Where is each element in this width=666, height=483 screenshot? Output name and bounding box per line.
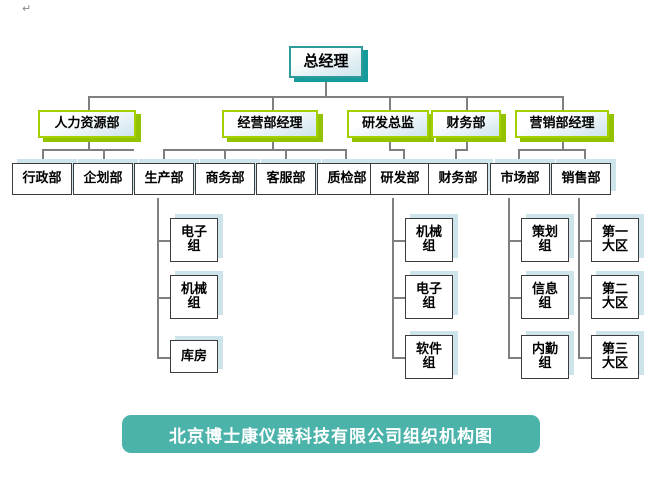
connector-rnd-bus	[389, 149, 404, 151]
connector-production-spine	[157, 198, 159, 358]
node-line-2: 组	[187, 240, 200, 254]
node-operations-manager[interactable]: 经营部经理	[222, 110, 318, 138]
node-line-1: 电子	[181, 226, 207, 240]
node-sales-region-3[interactable]: 第三 大区	[591, 335, 639, 379]
connector-salesmgr-bus	[518, 149, 586, 151]
chart-title-banner: 北京博士康仪器科技有限公司组织机构图	[122, 415, 540, 453]
chart-title-text: 北京博士康仪器科技有限公司组织机构图	[169, 422, 493, 447]
node-line-2: 大区	[602, 297, 628, 311]
connector-level2-bus	[88, 96, 564, 98]
node-line-1: 机械	[416, 226, 442, 240]
connector-sales-spine	[578, 198, 580, 358]
connector-drop-finance	[466, 96, 468, 110]
connector-ops-production	[163, 149, 165, 163]
connector-salesmgr-market	[518, 149, 520, 163]
paragraph-mark-icon: ↵	[22, 3, 31, 14]
node-sales-region-1[interactable]: 第一 大区	[591, 218, 639, 262]
node-rnd-department[interactable]: 研发部	[370, 163, 430, 195]
node-customer-service-department[interactable]: 客服部	[256, 163, 316, 195]
node-quality-control-department[interactable]: 质检部	[317, 163, 377, 195]
node-line-1: 信息	[532, 283, 558, 297]
node-planning-department[interactable]: 企划部	[73, 163, 133, 195]
node-line-2: 组	[538, 357, 551, 371]
node-line-1: 机械	[181, 283, 207, 297]
connector-ops-bus	[163, 149, 346, 151]
node-general-manager[interactable]: 总经理	[289, 46, 363, 78]
node-finance-department-sub[interactable]: 财务部	[428, 163, 488, 195]
node-rnd-director[interactable]: 研发总监	[347, 110, 429, 138]
node-finance-department[interactable]: 财务部	[431, 110, 501, 138]
connector-ops-business	[224, 149, 226, 163]
node-marketing-manager[interactable]: 营销部经理	[515, 110, 609, 138]
connector-root-stem	[325, 80, 327, 97]
connector-salesmgr-sales	[584, 149, 586, 163]
connector-marketing-spine	[508, 198, 510, 358]
connector-drop-sales-mgr	[562, 96, 564, 110]
connector-hr-bus	[42, 149, 134, 151]
node-business-department[interactable]: 商务部	[195, 163, 255, 195]
node-line-2: 组	[422, 357, 435, 371]
connector-ops-service	[285, 149, 287, 163]
node-production-department[interactable]: 生产部	[134, 163, 194, 195]
node-line-1: 第二	[602, 283, 628, 297]
node-line-2: 组	[538, 297, 551, 311]
node-line-1: 策划	[532, 226, 558, 240]
org-chart-canvas: ↵ 总经理 人力资源	[0, 0, 666, 483]
connector-rnd-dept	[403, 149, 405, 163]
node-hr-department[interactable]: 人力资源部	[38, 110, 136, 138]
node-line-1: 第一	[602, 226, 628, 240]
node-sales-region-2[interactable]: 第二 大区	[591, 275, 639, 319]
node-line-2: 组	[422, 297, 435, 311]
connector-rnd-spine	[392, 198, 394, 358]
node-marketing-internal-team[interactable]: 内勤 组	[521, 335, 569, 379]
node-line-1: 内勤	[532, 343, 558, 357]
connector-ops-qc	[345, 149, 347, 163]
node-production-electronics-team[interactable]: 电子 组	[170, 218, 218, 262]
node-line-2: 组	[538, 240, 551, 254]
node-line-2: 组	[187, 297, 200, 311]
node-line-2: 组	[422, 240, 435, 254]
node-marketing-planning-team[interactable]: 策划 组	[521, 218, 569, 262]
node-rnd-mechanical-team[interactable]: 机械 组	[405, 218, 453, 262]
connector-hr-planning	[103, 149, 105, 163]
node-marketing-information-team[interactable]: 信息 组	[521, 275, 569, 319]
node-line-1: 电子	[416, 283, 442, 297]
connector-drop-hr	[88, 96, 90, 110]
node-market-department[interactable]: 市场部	[490, 163, 550, 195]
node-production-warehouse[interactable]: 库房	[170, 340, 218, 373]
node-line-1: 软件	[416, 343, 442, 357]
node-line-2: 大区	[602, 240, 628, 254]
node-rnd-software-team[interactable]: 软件 组	[405, 335, 453, 379]
connector-drop-rnd	[389, 96, 391, 110]
node-line-1: 第三	[602, 343, 628, 357]
node-administration-department[interactable]: 行政部	[12, 163, 72, 195]
node-line-2: 大区	[602, 357, 628, 371]
connector-drop-ops	[272, 96, 274, 110]
node-rnd-electronics-team[interactable]: 电子 组	[405, 275, 453, 319]
node-line-1: 库房	[181, 350, 207, 364]
connector-hr-admin	[42, 149, 44, 163]
node-production-mechanical-team[interactable]: 机械 组	[170, 275, 218, 319]
node-sales-department[interactable]: 销售部	[551, 163, 611, 195]
connector-finance-dept	[455, 149, 457, 163]
